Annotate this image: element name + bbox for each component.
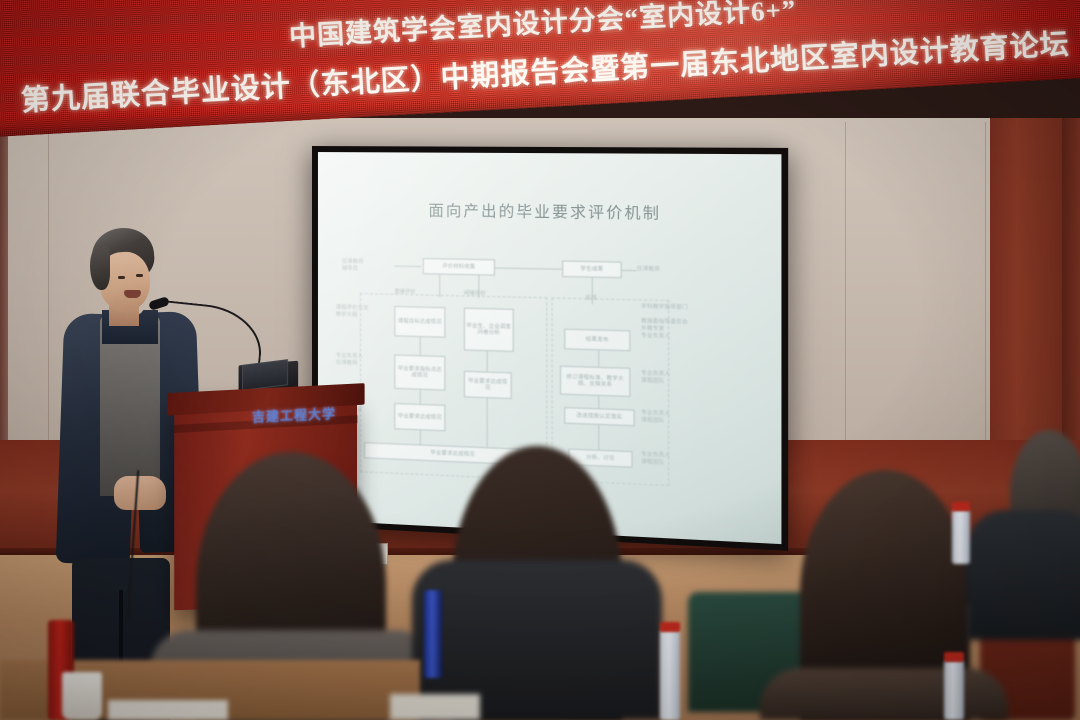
diagram-connector [487, 398, 488, 447]
diagram-connector [598, 425, 599, 450]
diagram-box: 毕业要求达成情况 [464, 371, 512, 399]
water-bottle [660, 630, 680, 720]
diagram-connector [420, 430, 421, 444]
slide-title: 面向产出的毕业要求评价机制 [318, 198, 782, 225]
diagram-connector [622, 270, 637, 271]
paper-cup [62, 672, 102, 720]
wall-panel-seam [845, 122, 846, 442]
wall-panel-seam [985, 122, 986, 442]
diagram-connector [487, 351, 488, 371]
audience-shoulders [760, 668, 1008, 720]
conference-photo-scene: 中国建筑学会室内设计分会“室内设计6+” 第九届联合毕业设计（东北区）中期报告会… [0, 0, 1080, 720]
diagram-box: 结果发布 [564, 329, 630, 352]
water-bottle [944, 660, 964, 720]
diagram-box: 毕业要求指标点达成情况 [394, 354, 445, 390]
speaker-hands [114, 476, 166, 510]
bottle-cap [952, 502, 970, 511]
diagram-connector [394, 266, 420, 268]
diagram-label: 专业负责人 课程团队 [641, 370, 670, 385]
speaker-eye-right [136, 274, 143, 277]
diagram-label: 专业负责人 任课教师 [336, 353, 363, 367]
diagram-label: 课程评价方法 教学大纲 [336, 305, 368, 319]
diagram-box: 修订课程标准、教学大纲、支撑关系 [560, 366, 630, 397]
paper-sheet [108, 700, 228, 720]
speaker-mouth [124, 290, 141, 298]
diagram-connector [439, 275, 440, 297]
bottle-cap [660, 622, 680, 632]
diagram-box: 课程目标达成情况 [394, 306, 445, 338]
diagram-caption: 间接评价 [464, 289, 485, 297]
diagram-label: 专业负责人 课程团队 [641, 410, 670, 425]
diagram-label: 任课教师 辅导员 [342, 259, 364, 273]
diagram-connector [592, 278, 593, 305]
diagram-box: 改进措施认定落实 [564, 407, 634, 426]
diagram-label: 学科教学指导部门 [641, 304, 688, 312]
diagram-box: 学生成果 [562, 260, 622, 278]
podium-nameplate: 吉建工程大学 [240, 400, 348, 429]
paper-sheet [390, 694, 480, 720]
diagram-connector [420, 337, 421, 355]
diagram-connector [495, 267, 562, 269]
diagram-caption: 直接评价 [394, 288, 415, 296]
wall-wood-panel-right-edge [1062, 118, 1080, 458]
speaker-eye-left [118, 276, 125, 279]
water-bottle [952, 510, 970, 564]
wall-panel-seam [48, 122, 49, 442]
wall-wood-trim-left [0, 120, 8, 450]
diagram-connector [478, 275, 479, 297]
speaker-hair-side [90, 246, 110, 290]
diagram-connector [598, 396, 599, 408]
diagram-label: 专业负责人 课程团队 [641, 452, 670, 467]
diagram-box: 毕业生、企业调查问卷分析 [464, 308, 514, 352]
diagram-label: 任课教师 [637, 266, 660, 273]
diagram-connector [598, 350, 599, 367]
water-bottle [424, 590, 442, 678]
diagram-box: 毕业要求达成情况 [394, 403, 445, 431]
diagram-label: 教指委指导委员会 外聘专家 专业负责人 [641, 318, 688, 340]
bottle-cap [944, 652, 964, 662]
diagram-connector [420, 390, 421, 404]
audience-shoulders [966, 510, 1080, 640]
diagram-box: 评价材料收集 [423, 258, 495, 276]
